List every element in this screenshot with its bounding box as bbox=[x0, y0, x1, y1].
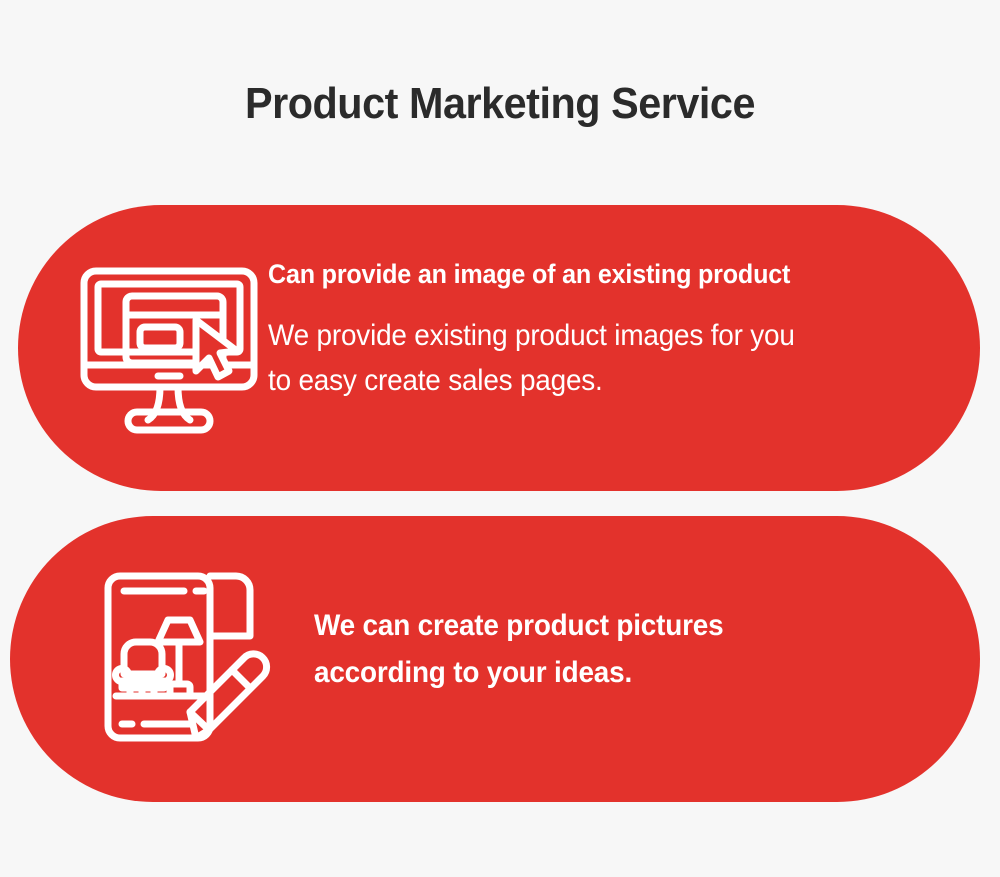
service-card-existing-product-image[interactable]: Can provide an image of an existing prod… bbox=[18, 205, 980, 491]
card-body-line-2: to easy create sales pages. bbox=[268, 358, 900, 403]
card-text-block: Can provide an image of an existing prod… bbox=[268, 255, 948, 403]
sketch-page-pencil-icon bbox=[92, 562, 282, 752]
page-title: Product Marketing Service bbox=[30, 74, 970, 134]
monitor-window-cursor-icon bbox=[78, 257, 260, 439]
marketing-service-page: Product Marketing Service bbox=[0, 0, 1000, 877]
card-body-line-1: We provide existing product images for y… bbox=[268, 313, 900, 358]
card-heading: Can provide an image of an existing prod… bbox=[268, 255, 900, 293]
service-card-custom-product-picture[interactable]: We can create product pictures according… bbox=[10, 516, 980, 802]
card-heading-line-1: We can create product pictures bbox=[314, 602, 891, 649]
card-heading: We can create product pictures according… bbox=[314, 602, 891, 696]
card-text-block: We can create product pictures according… bbox=[314, 602, 934, 696]
card-body: We provide existing product images for y… bbox=[268, 313, 900, 403]
card-heading-line-2: according to your ideas. bbox=[314, 649, 891, 696]
